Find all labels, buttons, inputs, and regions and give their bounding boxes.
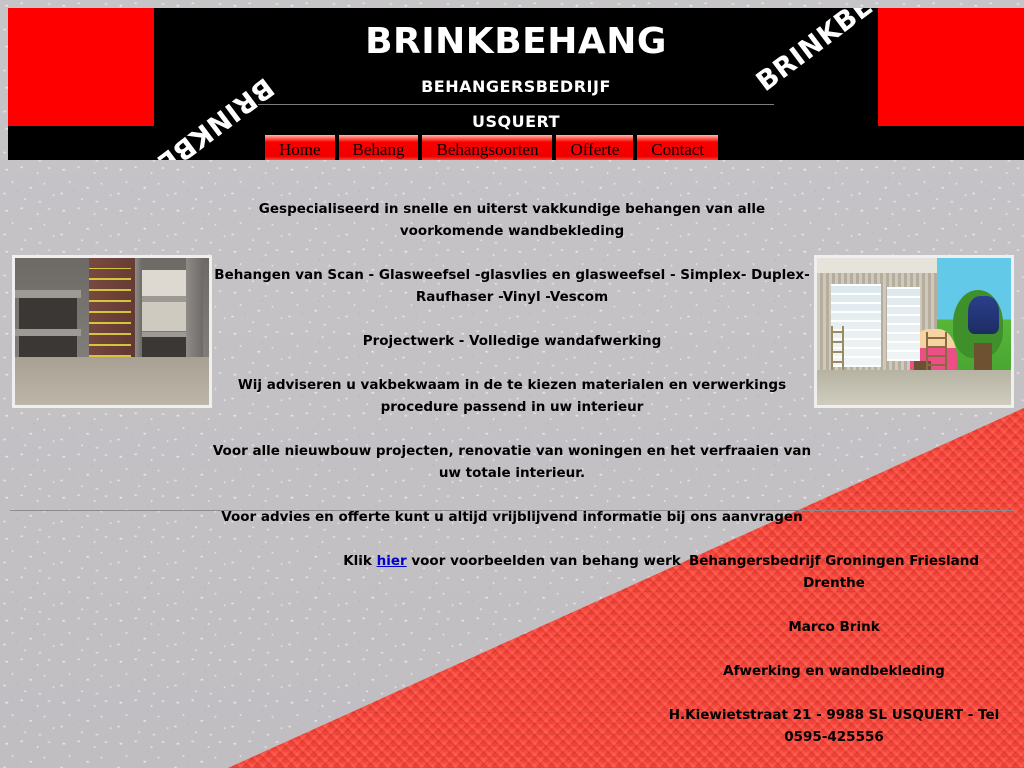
footer-line-address: H.Kiewietstraat 21 - 9988 SL USQUERT - T…: [664, 704, 1004, 748]
site-city: USQUERT: [256, 111, 776, 133]
header-divider: [258, 104, 774, 105]
examples-link[interactable]: hier: [377, 553, 407, 569]
header-titles: BRINKBEHANG BEHANGERSBEDRIJF USQUERT: [256, 16, 776, 133]
construction-site-photo: [12, 255, 212, 408]
main-navigation[interactable]: Home Behang Behangsoorten Offerte Contac…: [264, 134, 719, 160]
logo-badge-right: BRINKBEHANG: [878, 8, 1024, 126]
copy-paragraph-5: Voor alle nieuwbouw projecten, renovatie…: [212, 440, 812, 484]
nav-item-offerte[interactable]: Offerte: [555, 134, 634, 160]
logo-wordmark-right: BRINKBEHANG: [751, 8, 952, 98]
site-header: BRINKBEHANG BRINKBEHANG BRINKBEHANG BEHA…: [8, 8, 1024, 160]
nav-item-contact[interactable]: Contact: [636, 134, 719, 160]
site-title: BRINKBEHANG: [256, 20, 776, 64]
nav-item-behangsoorten[interactable]: Behangsoorten: [421, 134, 553, 160]
nav-item-home[interactable]: Home: [264, 134, 336, 160]
nav-item-behang[interactable]: Behang: [338, 134, 420, 160]
logo-wordmark-left: BRINKBEHANG: [79, 71, 280, 160]
footer-line-company: Behangersbedrijf Groningen Friesland Dre…: [664, 550, 1004, 594]
copy-paragraph-3: Projectwerk - Volledige wandafwerking: [212, 330, 812, 352]
link-suffix-text: voor voorbeelden van behang werk: [407, 553, 681, 569]
content-divider: [10, 510, 1014, 511]
footer-line-services: Afwerking en wandbekleding: [664, 660, 1004, 682]
copy-paragraph-2: Behangen van Scan - Glasweefsel -glasvli…: [212, 264, 812, 308]
copy-paragraph-4: Wij adviseren u vakbekwaam in de te kiez…: [212, 374, 812, 418]
footer-line-owner: Marco Brink: [664, 616, 1004, 638]
wallpapered-room-photo: [814, 255, 1014, 408]
link-prefix-text: Klik: [343, 553, 376, 569]
copy-paragraph-1: Gespecialiseerd in snelle en uiterst vak…: [212, 198, 812, 242]
site-subtitle: BEHANGERSBEDRIJF: [256, 76, 776, 98]
page-root: BRINKBEHANG BRINKBEHANG BRINKBEHANG BEHA…: [0, 0, 1024, 768]
logo-badge-left: BRINKBEHANG: [8, 8, 154, 126]
contact-footer: Behangersbedrijf Groningen Friesland Dre…: [664, 550, 1004, 748]
intro-copy: Gespecialiseerd in snelle en uiterst vak…: [212, 198, 812, 572]
